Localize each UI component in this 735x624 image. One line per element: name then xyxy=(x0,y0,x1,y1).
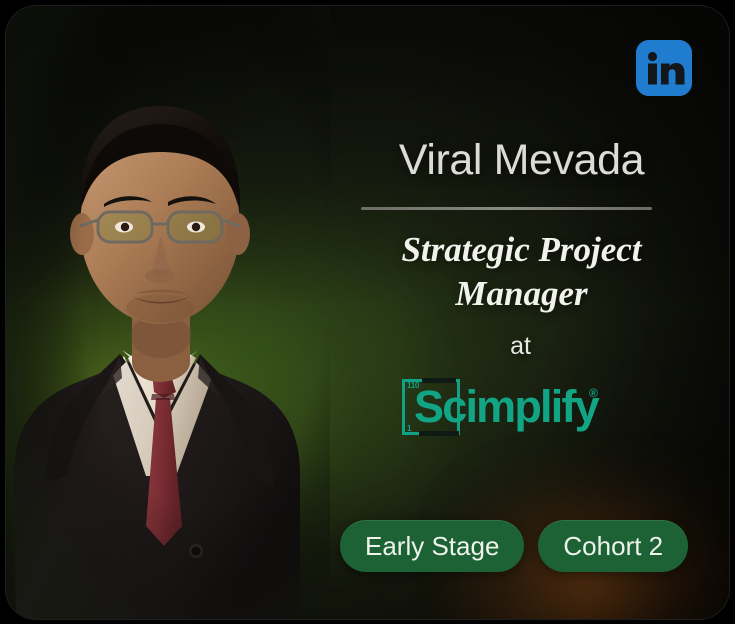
at-label: at xyxy=(336,331,705,361)
job-title: Strategic Project Manager xyxy=(350,228,693,316)
company-logo: 110 1 Scimplify ® xyxy=(402,373,612,439)
company-name: Scimplify xyxy=(414,378,598,436)
profile-card: Viral Mevada Strategic Project Manager a… xyxy=(6,6,729,619)
badge-group: Early Stage Cohort 2 xyxy=(340,520,706,572)
portrait-photo xyxy=(6,6,330,619)
profile-info: Viral Mevada Strategic Project Manager a… xyxy=(336,6,729,619)
logo-element-number-bottom: 1 xyxy=(407,424,411,433)
badge-cohort[interactable]: Cohort 2 xyxy=(538,520,688,572)
registered-trademark-icon: ® xyxy=(589,387,598,399)
linkedin-icon[interactable] xyxy=(636,40,692,96)
person-name: Viral Mevada xyxy=(336,134,707,186)
badge-early-stage[interactable]: Early Stage xyxy=(340,520,524,572)
name-divider xyxy=(361,207,652,210)
